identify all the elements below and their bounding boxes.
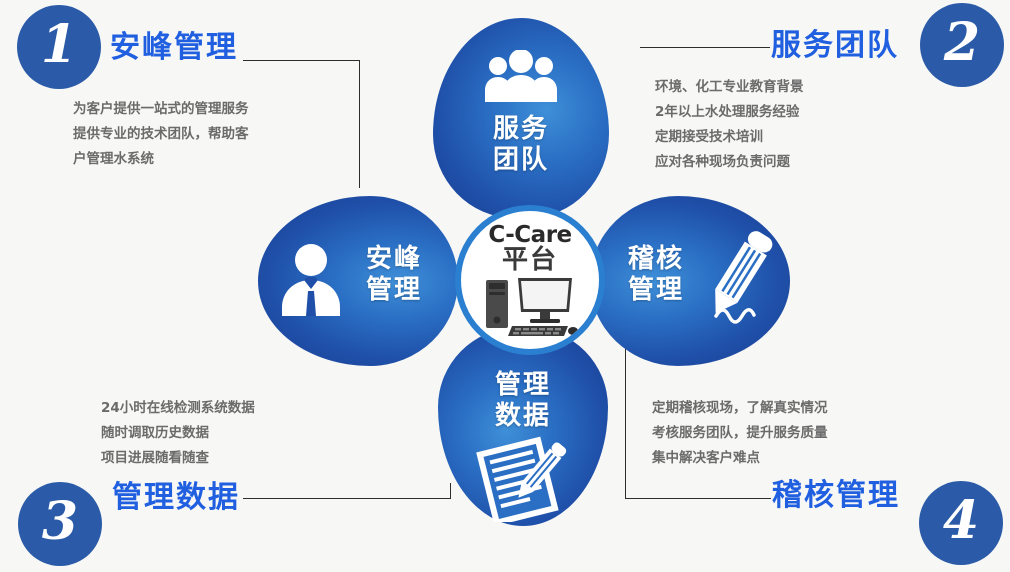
badge-number-1-label: 1 [41,19,77,71]
quadrant-4-title: 稽核管理 [772,470,900,514]
quadrant-3-line: 项目进展随看随查 [101,446,255,471]
infographic-canvas: 1 2 3 4 安峰管理 服务团队 管理数据 稽核管理 为客户提供一站式的管理服… [0,0,1010,572]
badge-number-3: 3 [18,482,102,566]
quadrant-1-description: 为客户提供一站式的管理服务 提供专业的技术团队，帮助客 户管理水系统 [73,97,249,172]
petal-anfeng-management-label: 安峰 管理 [342,244,446,306]
quadrant-3-line: 24小时在线检测系统数据 [101,396,255,421]
pencil-icon [702,224,778,332]
quadrant-3-description: 24小时在线检测系统数据 随时调取历史数据 项目进展随看随查 [101,396,255,471]
quadrant-1-line: 为客户提供一站式的管理服务 [73,97,249,122]
quadrant-1-line: 提供专业的技术团队，帮助客 [73,122,249,147]
petal-management-data-line1: 管理 [438,370,608,401]
petal-audit-management-line1: 稽核 [604,244,708,275]
badge-number-4-label: 4 [943,495,979,547]
center-hub-c-care-platform[interactable]: C-Care 平台 [455,205,605,355]
businessman-icon [280,242,342,316]
quadrant-1-line: 户管理水系统 [73,147,249,172]
quadrant-3-title: 管理数据 [112,472,240,516]
petal-anfeng-management-line2: 管理 [342,275,446,306]
petal-anfeng-management-line1: 安峰 [342,244,446,275]
petal-anfeng-management[interactable]: 安峰 管理 [258,196,458,366]
desktop-computer-icon [482,276,578,338]
badge-number-3-label: 3 [42,496,78,548]
quadrant-3-line: 随时调取历史数据 [101,421,255,446]
badge-number-1: 1 [17,5,101,89]
badge-number-2-label: 2 [944,17,980,69]
badge-number-2: 2 [920,3,1004,87]
petal-audit-management[interactable]: 稽核 管理 [590,196,790,366]
clipboard-pen-icon [474,436,572,522]
center-hub-brand-cn: 平台 [502,247,558,274]
petal-management-data-line2: 数据 [438,401,608,432]
quadrant-2-title: 服务团队 [771,20,899,64]
petal-management-data-label: 管理 数据 [438,370,608,432]
petal-audit-management-line2: 管理 [604,275,708,306]
quadrant-1-title: 安峰管理 [110,22,238,66]
petal-audit-management-label: 稽核 管理 [604,244,708,306]
people-group-icon [485,50,557,102]
petal-management-data[interactable]: 管理 数据 [438,328,608,526]
petal-service-team-label: 服务 团队 [433,114,609,176]
petal-service-team-line2: 团队 [433,145,609,176]
badge-number-4: 4 [919,481,1003,565]
petal-service-team[interactable]: 服务 团队 [433,18,609,218]
petal-service-team-line1: 服务 [433,114,609,145]
four-petal-diagram: 服务 团队 安峰 管理 [258,18,790,526]
